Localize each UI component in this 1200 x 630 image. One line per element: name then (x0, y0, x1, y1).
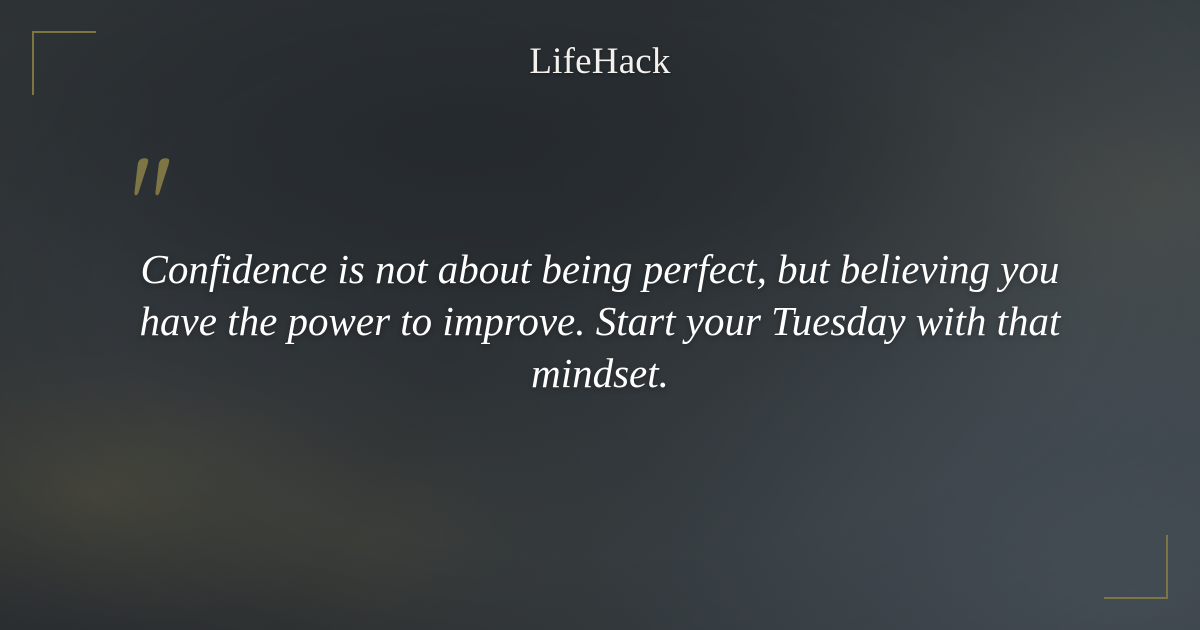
brand-logo: LifeHack (0, 40, 1200, 84)
quote-text: Confidence is not about being perfect, b… (100, 243, 1100, 399)
double-quote-icon (128, 152, 188, 218)
quote-card: LifeHack Confidence is not about being p… (0, 0, 1200, 630)
corner-bracket-bottom-right-icon (1104, 535, 1168, 599)
